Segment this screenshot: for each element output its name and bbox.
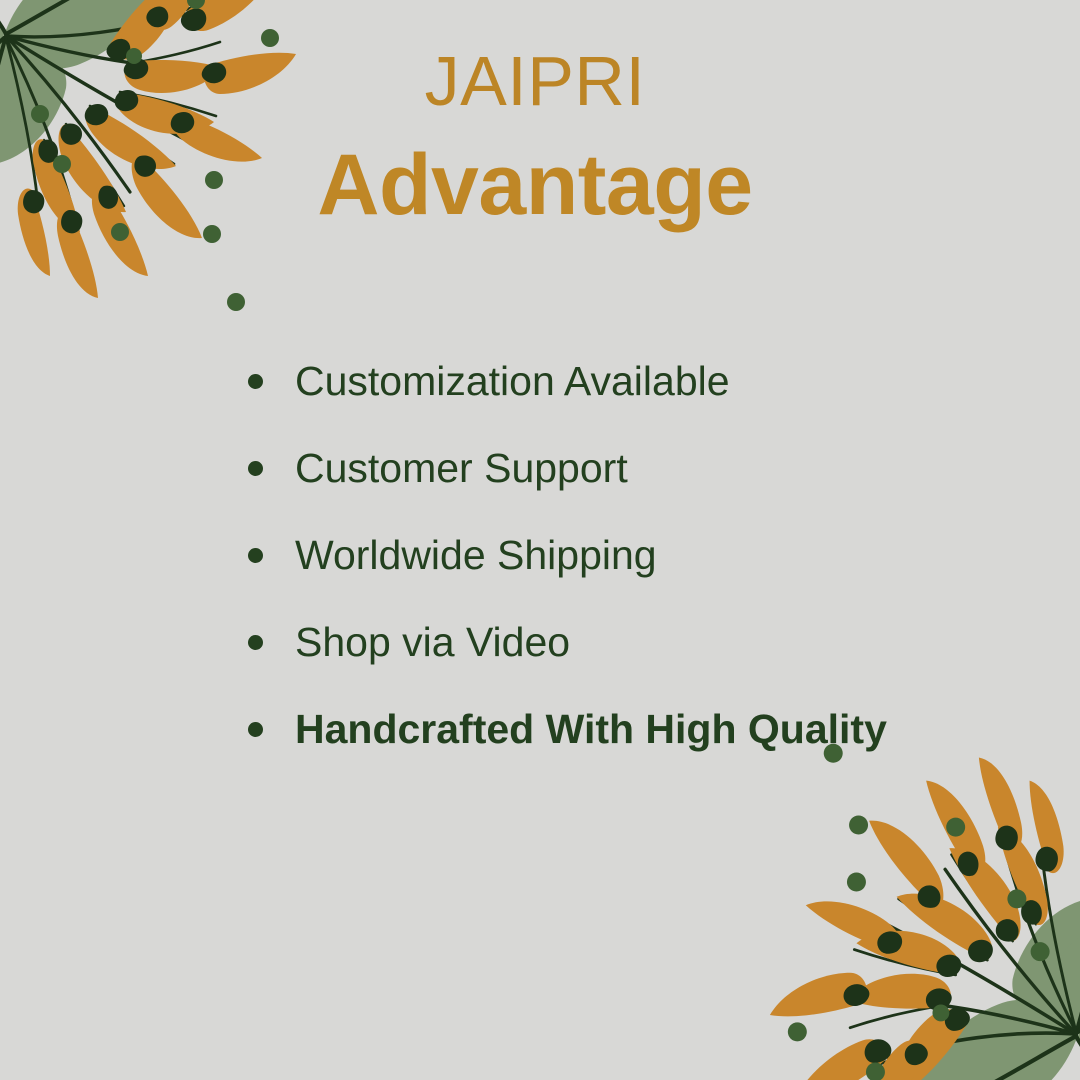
bullet-icon	[248, 635, 263, 650]
advantage-list: Customization Available Customer Support…	[248, 338, 1008, 773]
green-dots	[788, 744, 1050, 1080]
list-item: Customer Support	[248, 425, 1008, 512]
list-item: Worldwide Shipping	[248, 512, 1008, 599]
list-item-label: Worldwide Shipping	[295, 534, 657, 577]
floral-branch-icon	[734, 730, 1080, 1080]
bullet-icon	[248, 461, 263, 476]
petal-tips	[844, 826, 1058, 1065]
list-item: Handcrafted With High Quality	[248, 686, 1008, 773]
sage-leaves	[916, 898, 1080, 1080]
list-item-label: Handcrafted With High Quality	[295, 708, 887, 751]
branch-stems	[850, 831, 1076, 1065]
bullet-icon	[248, 374, 263, 389]
page-title: JAIPRI Advantage	[0, 46, 1080, 228]
brand-name: JAIPRI	[0, 46, 1080, 116]
leaf-veins	[928, 903, 1080, 1080]
list-item: Shop via Video	[248, 599, 1008, 686]
bullet-icon	[248, 722, 263, 737]
list-item-label: Customer Support	[295, 447, 628, 490]
list-item-label: Customization Available	[295, 360, 730, 403]
list-item-label: Shop via Video	[295, 621, 570, 664]
petals	[770, 757, 1064, 1080]
bullet-icon	[248, 548, 263, 563]
list-item: Customization Available	[248, 338, 1008, 425]
poster-canvas: JAIPRI Advantage Customization Available…	[0, 0, 1080, 1080]
heading-subtitle: Advantage	[0, 142, 1080, 228]
